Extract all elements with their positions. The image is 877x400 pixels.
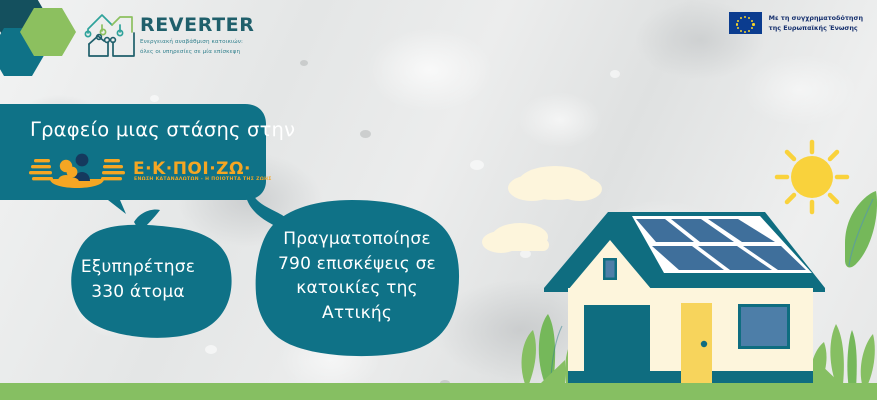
ekpoizo-logo: Ε·Κ·ΠΟΙ·ΖΩ· ΕΝΩΣΗ ΚΑΤΑΝΑΛΩΤΩΝ - Η ΠΟΙΟΤΗ…: [28, 147, 128, 195]
stat-home-visits-line-1: Πραγματοποίησε: [262, 227, 452, 252]
house-illustration: [544, 212, 825, 384]
cloud-lower: [482, 223, 549, 253]
bubble-title: Γραφείο μιας στάσης στην: [30, 118, 295, 141]
stat-people-served-line-1: Εξυπηρέτησε: [53, 255, 223, 280]
stat-home-visits-line-2: 790 επισκέψεις σε: [262, 252, 452, 277]
cloud-upper: [508, 166, 602, 201]
stat-people-served: Εξυπηρέτησε 330 άτομα: [53, 255, 223, 304]
stat-home-visits-line-4: Αττικής: [262, 301, 452, 326]
stat-home-visits-line-3: κατοικίες της: [262, 276, 452, 301]
sun-icon: [777, 142, 847, 212]
ekpoizo-wordmark: Ε·Κ·ΠΟΙ·ΖΩ·: [133, 159, 251, 179]
ekpoizo-subtitle: ΕΝΩΣΗ ΚΑΤΑΝΑΛΩΤΩΝ - Η ΠΟΙΟΤΗΤΑ ΤΗΣ ΖΩΗΣ: [134, 177, 272, 182]
illustration-layer: [0, 0, 877, 400]
stat-home-visits: Πραγματοποίησε 790 επισκέψεις σε κατοικί…: [262, 227, 452, 326]
infographic-canvas: REVERTER Ενεργειακή αναβάθμιση κατοικιών…: [0, 0, 877, 400]
stat-people-served-line-2: 330 άτομα: [53, 280, 223, 305]
ekpoizo-mark: [28, 147, 128, 191]
door-knob: [701, 341, 707, 347]
